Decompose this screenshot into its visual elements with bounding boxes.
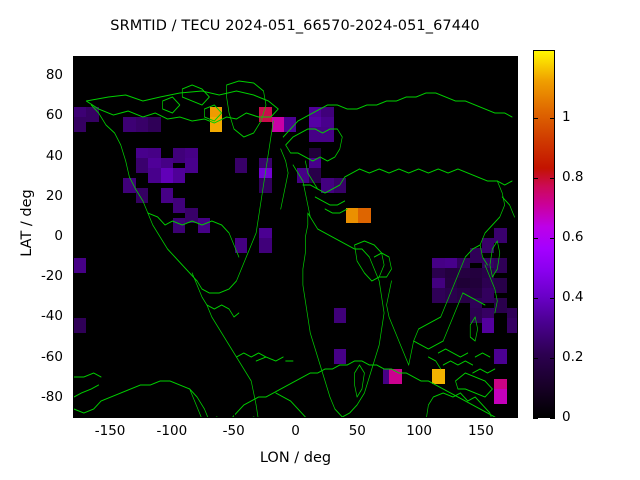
x-tick [110, 414, 111, 418]
coastline-overlay [74, 57, 517, 417]
x-tick-label: 0 [266, 423, 326, 439]
colorbar-tick [533, 118, 538, 119]
figure-canvas: SRMTID / TECU 2024-051_66570-2024-051_67… [0, 0, 640, 480]
colorbar-tick-label: 0.8 [562, 169, 583, 185]
colorbar-tick [550, 418, 555, 419]
colorbar-tick [550, 118, 555, 119]
x-tick [296, 414, 297, 418]
colorbar-tick [533, 418, 538, 419]
y-tick-label: 60 [0, 107, 63, 123]
x-tick [234, 414, 235, 418]
colorbar[interactable] [533, 50, 555, 418]
x-tick-label: 150 [451, 423, 511, 439]
x-tick-label: -150 [80, 423, 140, 439]
colorbar-tick [550, 178, 555, 179]
x-tick [172, 414, 173, 418]
colorbar-gradient [534, 51, 554, 417]
colorbar-tick [550, 298, 555, 299]
colorbar-tick [533, 298, 538, 299]
colorbar-tick-label: 0.6 [562, 229, 583, 245]
y-tick-label: -60 [0, 349, 63, 365]
x-tick [357, 414, 358, 418]
x-tick [234, 56, 235, 60]
colorbar-tick-label: 0 [562, 409, 571, 425]
x-tick [419, 56, 420, 60]
colorbar-tick-label: 0.2 [562, 349, 583, 365]
y-tick-label: 80 [0, 67, 63, 83]
x-tick [296, 56, 297, 60]
x-tick [419, 414, 420, 418]
y-tick-label: -80 [0, 389, 63, 405]
x-tick [172, 56, 173, 60]
x-tick-label: 50 [327, 423, 387, 439]
x-tick [481, 414, 482, 418]
x-tick-label: 100 [389, 423, 449, 439]
map-plot-area[interactable] [73, 56, 518, 418]
page-title: SRMTID / TECU 2024-051_66570-2024-051_67… [0, 18, 590, 34]
colorbar-tick-label: 0.4 [562, 289, 583, 305]
colorbar-tick [533, 238, 538, 239]
x-tick [481, 56, 482, 60]
colorbar-tick [533, 178, 538, 179]
colorbar-tick [550, 238, 555, 239]
colorbar-tick-label: 1 [562, 109, 571, 125]
x-tick [110, 56, 111, 60]
x-tick [357, 56, 358, 60]
x-tick-label: -50 [204, 423, 264, 439]
x-tick-label: -100 [142, 423, 202, 439]
colorbar-tick [550, 358, 555, 359]
y-axis-title: LAT / deg [19, 133, 35, 313]
colorbar-tick [533, 358, 538, 359]
x-axis-title: LON / deg [73, 450, 518, 466]
